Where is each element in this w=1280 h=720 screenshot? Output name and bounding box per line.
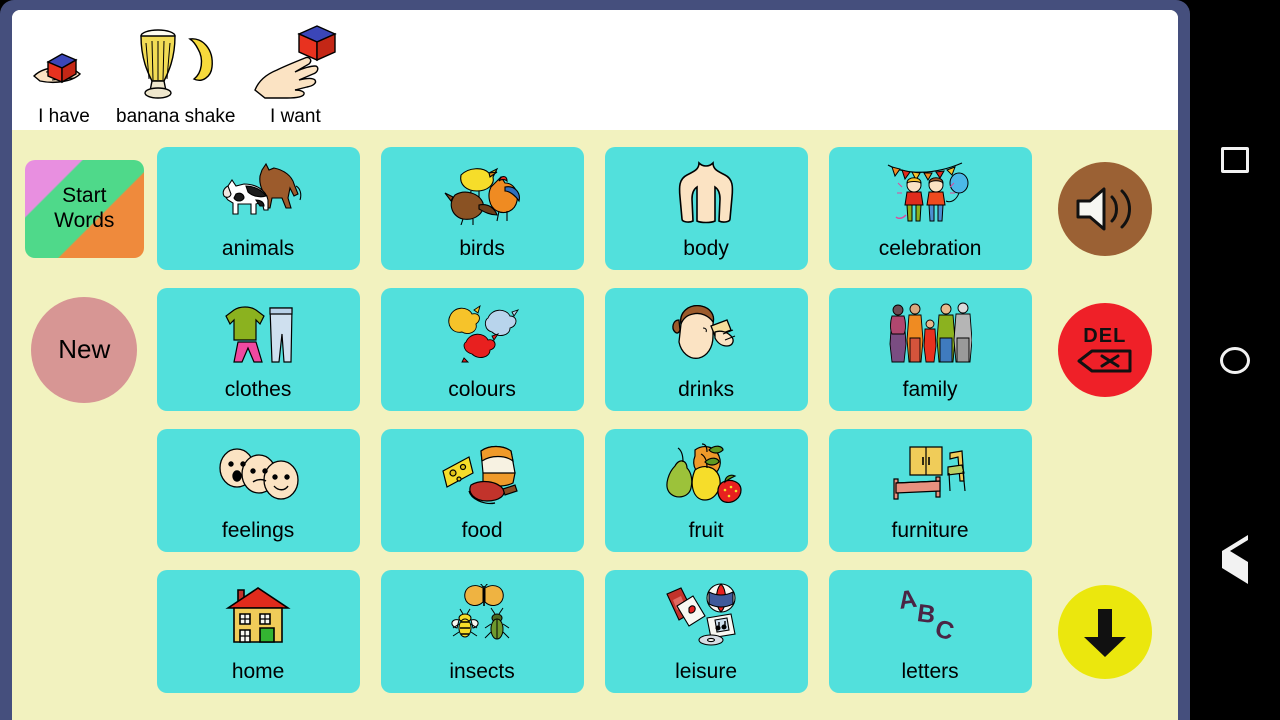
symbol-board: Start Words [12, 130, 1178, 720]
start-words-button[interactable]: Start Words [25, 160, 144, 258]
cell-body[interactable]: body [605, 147, 808, 270]
cell-celebration[interactable]: celebration [829, 147, 1032, 270]
back-button[interactable] [1190, 530, 1280, 590]
delete-button-label: DEL [1083, 326, 1126, 346]
new-button-label: New [58, 334, 110, 365]
sentence-item-label: I want [270, 107, 321, 128]
cell-clothes[interactable]: clothes [157, 288, 360, 411]
cell-label: drinks [678, 378, 734, 405]
sentence-item-banana-shake[interactable]: banana shake [108, 14, 243, 128]
cell-label: colours [448, 378, 516, 405]
rail-left-slot: Start Words [12, 160, 157, 258]
board-row: home [12, 561, 1178, 702]
cell-animals[interactable]: animals [157, 147, 360, 270]
cell-label: leisure [675, 660, 737, 687]
sentence-bar[interactable]: I have banana shake [12, 10, 1178, 130]
cell-feelings[interactable]: feelings [157, 429, 360, 552]
row-cells: home [157, 570, 1032, 693]
rail-empty-slot [25, 583, 144, 681]
board-row: feelings [12, 420, 1178, 561]
rail-right-slot [1032, 585, 1178, 679]
speaker-icon [1074, 183, 1136, 235]
svg-text:A: A [897, 586, 919, 615]
milkshake-banana-icon [128, 25, 224, 107]
app-window-frame: I have banana shake [0, 0, 1190, 720]
rail-left-slot [12, 583, 157, 681]
screen: I have banana shake [0, 0, 1280, 720]
cell-food[interactable]: food [381, 429, 584, 552]
square-recents-icon [1221, 147, 1249, 173]
cell-colours[interactable]: colours [381, 288, 584, 411]
home-button[interactable] [1190, 330, 1280, 390]
svg-text:B: B [915, 599, 937, 629]
house-icon [157, 570, 360, 660]
arrow-down-icon [1076, 603, 1134, 661]
cell-label: birds [459, 237, 505, 264]
cell-label: fruit [689, 519, 724, 546]
butterfly-bee-beetle-icon [381, 570, 584, 660]
cell-furniture[interactable]: furniture [829, 429, 1032, 552]
board-row: Start Words [12, 138, 1178, 279]
three-faces-icon [157, 429, 360, 519]
start-words-label-line2: Words [54, 209, 114, 233]
sentence-item-label: banana shake [116, 107, 235, 128]
cell-label: animals [222, 237, 294, 264]
recents-button[interactable] [1190, 130, 1280, 190]
circle-home-icon [1220, 347, 1250, 374]
new-button[interactable]: New [31, 297, 137, 403]
sentence-item-label: I have [38, 107, 90, 128]
cell-label: clothes [225, 378, 292, 405]
canary-rooster-icon [381, 147, 584, 237]
row-cells: feelings [157, 429, 1032, 552]
cheese-bread-meat-icon [381, 429, 584, 519]
hand-holding-cube-icon [28, 25, 100, 107]
paint-splats-icon [381, 288, 584, 378]
family-group-icon [829, 288, 1032, 378]
cell-label: letters [901, 660, 958, 687]
person-drinking-icon [605, 288, 808, 378]
party-children-bunting-icon [829, 147, 1032, 237]
speak-button[interactable] [1058, 162, 1152, 256]
board-row: New [12, 279, 1178, 420]
row-cells: animals [157, 147, 1032, 270]
cell-fruit[interactable]: fruit [605, 429, 808, 552]
horse-cow-icon [157, 147, 360, 237]
cell-label: body [683, 237, 729, 264]
cell-letters[interactable]: A B C letters [829, 570, 1032, 693]
rail-right-slot [1032, 162, 1178, 256]
rail-right-slot [1032, 442, 1178, 540]
svg-text:C: C [932, 614, 957, 644]
cell-label: furniture [892, 519, 969, 546]
cell-family[interactable]: family [829, 288, 1032, 411]
row-cells: clothes [157, 288, 1032, 411]
triangle-back-icon [1222, 551, 1248, 569]
backspace-x-icon: DEL [1076, 326, 1134, 374]
cell-label: home [232, 660, 285, 687]
abc-letters-icon: A B C [829, 570, 1032, 660]
cell-leisure[interactable]: leisure [605, 570, 808, 693]
rail-left-slot: New [12, 297, 157, 403]
cell-label: insects [449, 660, 514, 687]
cell-label: food [462, 519, 503, 546]
delete-button[interactable]: DEL [1058, 303, 1152, 397]
cell-drinks[interactable]: drinks [605, 288, 808, 411]
pear-orange-apple-strawberry-icon [605, 429, 808, 519]
cabinet-chair-bed-icon [829, 429, 1032, 519]
cards-ball-cd-icon [605, 570, 808, 660]
cell-insects[interactable]: insects [381, 570, 584, 693]
page-down-button[interactable] [1058, 585, 1152, 679]
rail-empty-slot [25, 442, 144, 540]
start-words-label-line1: Start [62, 184, 106, 208]
rail-left-slot [12, 442, 157, 540]
app-content: I have banana shake [12, 10, 1178, 720]
cell-birds[interactable]: birds [381, 147, 584, 270]
cell-home[interactable]: home [157, 570, 360, 693]
cell-label: feelings [222, 519, 294, 546]
hand-reaching-cube-icon [251, 25, 339, 107]
android-navigation-bar [1190, 0, 1280, 720]
sentence-item-i-want[interactable]: I want [243, 14, 347, 128]
sentence-item-i-have[interactable]: I have [20, 14, 108, 128]
cell-label: celebration [879, 237, 982, 264]
cell-label: family [903, 378, 958, 405]
sweater-jeans-skirt-icon [157, 288, 360, 378]
rail-empty-slot [1045, 442, 1164, 540]
rail-right-slot: DEL [1032, 303, 1178, 397]
torso-icon [605, 147, 808, 237]
